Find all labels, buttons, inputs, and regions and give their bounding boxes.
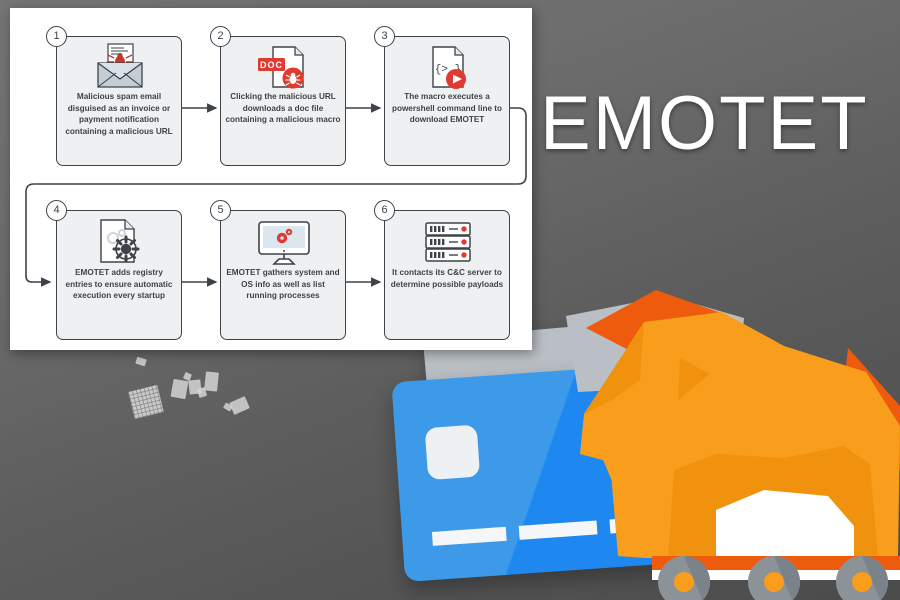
powershell-script-run-icon: {>_} (423, 45, 473, 91)
step-number-3: 3 (374, 26, 395, 47)
step-box-1[interactable]: Malicious spam email disguised as an inv… (56, 36, 182, 166)
trojan-horse-icon (548, 288, 900, 600)
step-label-1: Malicious spam email disguised as an inv… (61, 91, 177, 137)
emotet-infographic: Malicious spam email disguised as an inv… (0, 0, 900, 600)
fragment (135, 357, 147, 367)
card-stripe (432, 527, 507, 546)
step-number-1: 1 (46, 26, 67, 47)
page-title: EMOTET (540, 86, 869, 162)
fragment (171, 379, 189, 399)
step-label-6: It contacts its C&C server to determine … (389, 267, 505, 290)
server-rack-icon (422, 221, 474, 265)
step-number-6: 6 (374, 200, 395, 221)
wheel-group (658, 556, 888, 600)
desktop-monitor-gears-icon (254, 220, 314, 266)
step-number-4: 4 (46, 200, 67, 221)
step-label-3: The macro executes a powershell command … (389, 91, 505, 126)
step-label-2: Clicking the malicious URL downloads a d… (225, 91, 341, 126)
fragment (229, 396, 250, 415)
malicious-email-icon (92, 43, 148, 89)
doc-file-malware-icon: DOC (255, 45, 313, 91)
fragment (128, 385, 164, 419)
emotet-flow-panel: Malicious spam email disguised as an inv… (10, 8, 532, 350)
step-label-5: EMOTET gathers system and OS info as wel… (225, 267, 341, 302)
card-chip-icon (425, 425, 481, 481)
registry-gear-document-icon (93, 218, 147, 266)
step-box-3[interactable]: {>_} The macro executes a powershell com… (384, 36, 510, 166)
step-number-2: 2 (210, 26, 231, 47)
step-box-6[interactable]: It contacts its C&C server to determine … (384, 210, 510, 340)
fragment (204, 371, 219, 391)
step-box-2[interactable]: DOC Clicking the malicious URL downloads… (220, 36, 346, 166)
step-box-5[interactable]: EMOTET gathers system and OS info as wel… (220, 210, 346, 340)
svg-text:DOC: DOC (260, 60, 283, 70)
step-label-4: EMOTET adds registry entries to ensure a… (61, 267, 177, 302)
step-box-4[interactable]: EMOTET adds registry entries to ensure a… (56, 210, 182, 340)
step-number-5: 5 (210, 200, 231, 221)
